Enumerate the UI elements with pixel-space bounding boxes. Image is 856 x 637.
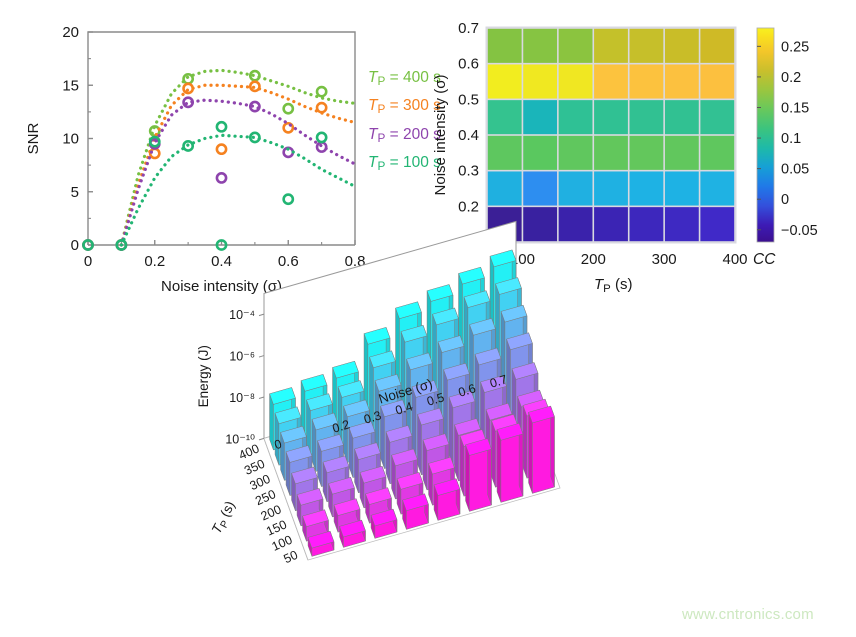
heatmap-cell <box>523 64 557 98</box>
snr-axes: 0510152000.20.40.60.8 <box>62 24 365 270</box>
snr-fit-curve <box>121 85 355 245</box>
snr-chart: 0510152000.20.40.60.8SNRNoise intensity … <box>0 0 430 300</box>
snr-xtick-label: 0.4 <box>211 253 232 270</box>
heatmap-cells <box>486 27 737 244</box>
colorbar-tick-label: 0.1 <box>781 131 801 147</box>
colorbar-tick-label: 0.05 <box>781 162 809 178</box>
snr-data-point <box>184 74 193 83</box>
panel-snr-vs-noise: 0510152000.20.40.60.8SNRNoise intensity … <box>0 0 430 300</box>
heatmap-cell <box>523 207 557 241</box>
heatmap-cell <box>630 171 664 205</box>
colorbar-tick-label: 0.25 <box>781 39 809 55</box>
heatmap-cell <box>665 136 699 170</box>
heatmap-cell <box>559 29 593 63</box>
heatmap-cell <box>630 64 664 98</box>
snr-ytick-label: 10 <box>62 131 79 148</box>
heatmap-ytick-label: 0.7 <box>458 20 479 37</box>
bar-3d <box>434 479 460 521</box>
snr-xtick-label: 0 <box>84 253 92 270</box>
heatmap-xtick-label: 400 <box>722 251 747 268</box>
heatmap-cell <box>665 207 699 241</box>
heatmap-x-axis-title: TP (s) <box>594 276 632 295</box>
heatmap-cell <box>594 100 628 134</box>
snr-ytick-label: 0 <box>71 237 79 254</box>
snr-data-point <box>217 122 226 131</box>
colorbar-title: CC <box>753 251 776 268</box>
heatmap-cell <box>630 100 664 134</box>
heatmap-cell <box>665 100 699 134</box>
heatmap-cell <box>523 136 557 170</box>
snr-data-point <box>217 173 226 182</box>
energy-3d-chart: 10⁻⁴10⁻⁶10⁻⁸10⁻¹⁰Energy (J)4003503002502… <box>190 310 660 630</box>
heatmap-cell <box>559 171 593 205</box>
z-tick-label-3d: 10⁻⁶ <box>229 350 255 364</box>
snr-data-point <box>217 145 226 154</box>
y-axis-title-3d: TP (s) <box>209 498 241 537</box>
heatmap-ytick-label: 0.5 <box>458 91 479 108</box>
heatmap-cell <box>559 136 593 170</box>
heatmap-cell <box>523 171 557 205</box>
heatmap-cell <box>594 171 628 205</box>
snr-data-point <box>317 87 326 96</box>
heatmap-y-axis-title: Noise intensity (σ) <box>432 75 449 196</box>
heatmap-cell <box>700 207 734 241</box>
heatmap-cell <box>488 29 522 63</box>
heatmap-cell <box>700 136 734 170</box>
heatmap-ytick-label: 0.4 <box>458 127 479 144</box>
snr-series <box>83 70 355 249</box>
snr-x-axis-title: Noise intensity (σ) <box>161 278 282 295</box>
heatmap-cell <box>700 29 734 63</box>
heatmap-cell <box>523 29 557 63</box>
snr-ytick-label: 15 <box>62 77 79 94</box>
heatmap-xtick-label: 300 <box>652 251 677 268</box>
snr-ytick-label: 5 <box>71 184 79 201</box>
heatmap-cell <box>630 29 664 63</box>
snr-y-axis-title: SNR <box>25 122 42 154</box>
heatmap-cell <box>700 171 734 205</box>
colorbar-tick-label: −0.05 <box>781 223 818 239</box>
heatmap-cell <box>559 64 593 98</box>
bar-3d <box>497 423 523 502</box>
heatmap-cell <box>700 64 734 98</box>
heatmap-cell <box>523 100 557 134</box>
bar-3d <box>529 406 555 493</box>
colorbar-tick-label: 0.2 <box>781 70 801 86</box>
snr-data-point <box>317 133 326 142</box>
bar-3d <box>403 494 429 530</box>
colorbar: −0.0500.050.10.150.20.25 <box>757 28 818 242</box>
heatmap-ytick-label: 0.2 <box>458 198 479 215</box>
heatmap-cell <box>594 136 628 170</box>
heatmap-cell <box>665 64 699 98</box>
heatmap-cell <box>488 64 522 98</box>
heatmap-cell <box>665 171 699 205</box>
snr-data-point <box>284 104 293 113</box>
heatmap-cell <box>594 64 628 98</box>
y-tick-label-3d: 50 <box>281 548 299 566</box>
z-tick-label-3d: 10⁻⁸ <box>229 391 255 405</box>
heatmap-cell <box>559 207 593 241</box>
heatmap-cell <box>665 29 699 63</box>
snr-xtick-label: 0.2 <box>144 253 165 270</box>
heatmap-ytick-label: 0.3 <box>458 163 479 180</box>
heatmap-cell <box>630 207 664 241</box>
heatmap-ytick-label: 0.6 <box>458 56 479 73</box>
z-tick-label-3d: 10⁻⁴ <box>229 308 255 322</box>
z-axis-title-3d: Energy (J) <box>196 345 211 407</box>
snr-data-point <box>317 103 326 112</box>
colorbar-tick-label: 0.15 <box>781 100 809 116</box>
heatmap-cell <box>488 136 522 170</box>
z-axis-3d: 10⁻⁴10⁻⁶10⁻⁸10⁻¹⁰ <box>225 308 264 446</box>
watermark: www.cntronics.com <box>682 606 814 623</box>
heatmap-cell <box>594 29 628 63</box>
heatmap-cell <box>559 100 593 134</box>
panel-energy-3d: 10⁻⁴10⁻⁶10⁻⁸10⁻¹⁰Energy (J)4003503002502… <box>190 310 660 630</box>
colorbar-tick-label: 0 <box>781 192 789 208</box>
heatmap-cell <box>488 100 522 134</box>
snr-ytick-label: 20 <box>62 24 79 41</box>
snr-data-point <box>284 195 293 204</box>
heatmap-cell <box>630 136 664 170</box>
heatmap-xtick-label: 200 <box>581 251 606 268</box>
bar-3d <box>466 439 492 512</box>
snr-xtick-label: 0.6 <box>278 253 299 270</box>
snr-series <box>83 122 355 249</box>
snr-data-point <box>184 84 193 93</box>
snr-data-point <box>317 142 326 151</box>
heatmap-cell <box>700 100 734 134</box>
heatmap-cell <box>488 171 522 205</box>
heatmap-cell <box>594 207 628 241</box>
